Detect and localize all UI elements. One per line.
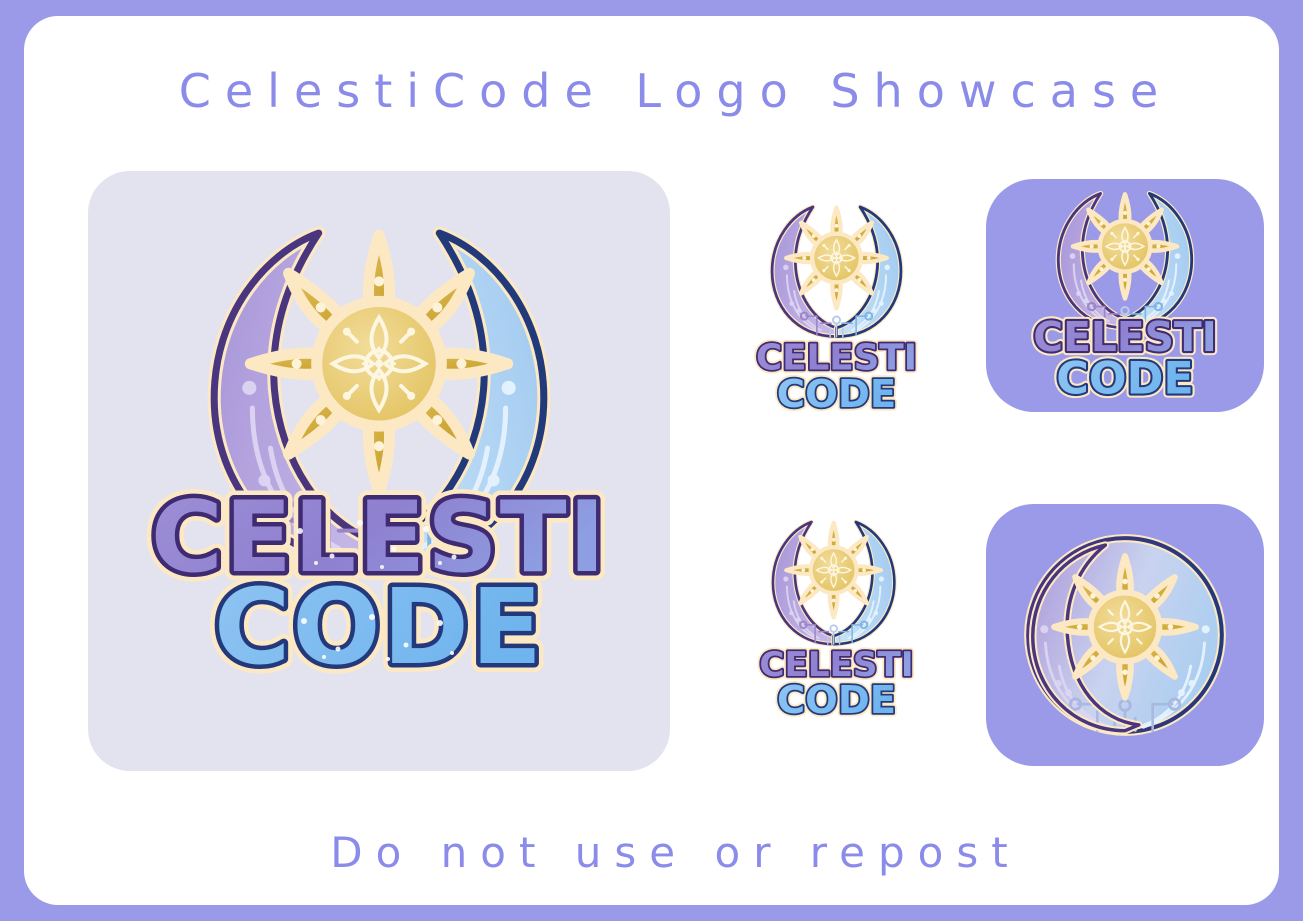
wordmark-code-text: CODE xyxy=(214,566,544,688)
page-title: CelestiCode Logo Showcase xyxy=(24,64,1303,118)
wordmark-code-text: CODE xyxy=(1056,354,1193,405)
logo-variant-small-white-a[interactable]: CELESTI CELESTI CODE CODE xyxy=(729,194,944,434)
moon-sun-icon xyxy=(772,207,901,337)
moon-sun-icon xyxy=(1028,538,1222,732)
poster-frame: CelestiCode Logo Showcase CELESTI CELEST… xyxy=(0,0,1303,921)
logo-small-a: CELESTI CELESTI CODE CODE xyxy=(729,194,944,434)
wordmark-code: CODE CODE xyxy=(214,566,544,688)
wordmark-code-text: CODE xyxy=(777,678,896,723)
showcase-card: CelestiCode Logo Showcase CELESTI CELEST… xyxy=(24,16,1279,905)
wordmark-code-text: CODE xyxy=(777,372,896,417)
primary-logo-panel[interactable]: CELESTI CELESTI CODE CODE xyxy=(88,171,670,771)
wordmark-code: CODE CODE xyxy=(1056,354,1193,405)
moon-sun-icon xyxy=(1058,193,1191,327)
logo-tile-icon xyxy=(986,504,1264,766)
logo-variant-app-tile-icon[interactable] xyxy=(986,504,1264,766)
logo-small-b: CELESTI CELESTI CODE CODE xyxy=(729,511,944,736)
logo-variant-small-white-b[interactable]: CELESTI CELESTI CODE CODE xyxy=(729,511,944,736)
logo-tile-full: CELESTI CELESTI CODE CODE xyxy=(986,179,1264,412)
primary-logo: CELESTI CELESTI CODE CODE xyxy=(88,171,670,771)
moon-sun-icon xyxy=(773,522,894,644)
logo-variant-app-tile-full[interactable]: CELESTI CELESTI CODE CODE xyxy=(986,179,1264,412)
wordmark-code: CODE CODE xyxy=(777,678,896,723)
footer-notice: Do not use or repost xyxy=(24,828,1303,877)
wordmark-code: CODE CODE xyxy=(777,372,896,417)
